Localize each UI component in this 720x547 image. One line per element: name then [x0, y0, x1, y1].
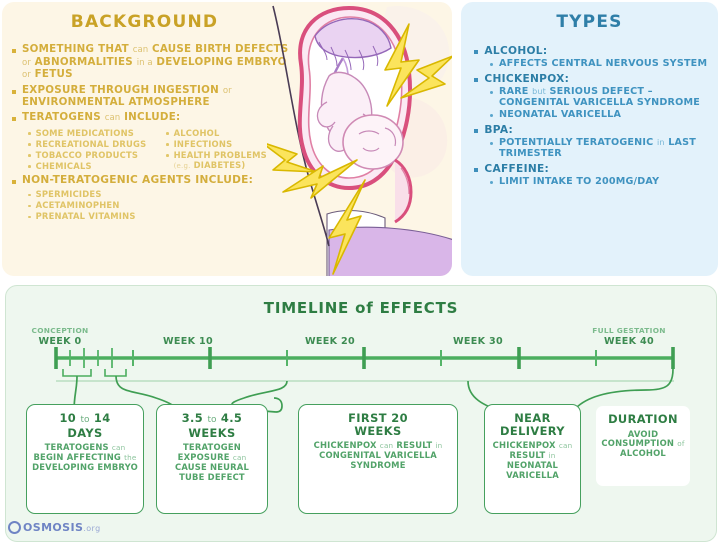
osmosis-wordmark: OSMOSIS.org	[23, 521, 101, 534]
timeline-panel: TIMELINE of EFFECTS CONCEPTION WEEK 0 WE…	[5, 285, 717, 542]
background-panel-title: BACKGROUND	[2, 12, 287, 32]
types-group-caffeine: CAFFEINE:	[474, 163, 712, 175]
timeline-card-3-5-4-5-weeks[interactable]: 3.5 to 4.5WEEKS TERATOGEN EXPOSURE can C…	[156, 404, 268, 514]
list-item: HEALTH PROBLEMS(e.g. DIABETES)	[166, 150, 267, 171]
square-bullet-icon	[474, 129, 478, 133]
timeline-card-10-14-days[interactable]: 10 to 14DAYS TERATOGENS can BEGIN AFFECT…	[26, 404, 144, 514]
osmosis-ring-icon	[8, 521, 21, 534]
square-bullet-icon	[12, 49, 16, 53]
background-panel: BACKGROUND SOMETHING THAT can CAUSE BIRT…	[2, 2, 452, 276]
card-heading: FIRST 20WEEKS	[348, 412, 408, 437]
list-item: PRENATAL VITAMINS	[28, 211, 290, 221]
list-item: ALCOHOL	[166, 128, 267, 138]
list-item: INFECTIONS	[166, 139, 267, 149]
square-bullet-icon	[12, 180, 16, 184]
card-heading: DURATION	[608, 413, 678, 426]
card-heading: 3.5 to 4.5WEEKS	[182, 412, 243, 439]
card-body: CHICKENPOX can RESULT in CONGENITAL VARI…	[303, 441, 453, 470]
square-bullet-icon	[474, 50, 478, 54]
list-item: LIMIT INTAKE TO 200MG/DAY	[490, 176, 712, 187]
list-item: NEONATAL VARICELLA	[490, 109, 712, 120]
types-panel-title: TYPES	[461, 12, 718, 32]
osmosis-logo[interactable]: OSMOSIS.org	[8, 521, 101, 534]
bullet-text: EXPOSURE THROUGH INGESTION or ENVIRONMEN…	[22, 85, 290, 109]
card-body: TERATOGENS can BEGIN AFFECTING the DEVEL…	[31, 443, 139, 472]
dot-bullet-icon	[490, 114, 493, 117]
square-bullet-icon	[12, 117, 16, 121]
teratogens-column-2: ALCOHOL INFECTIONS HEALTH PROBLEMS(e.g. …	[166, 128, 267, 172]
list-item: CHEMICALS	[28, 161, 156, 171]
dot-bullet-icon	[28, 194, 31, 197]
types-sublist-alcohol: AFFECTS CENTRAL NERVOUS SYSTEM	[490, 58, 712, 69]
bullet-item-exposure: EXPOSURE THROUGH INGESTION or ENVIRONMEN…	[12, 85, 290, 109]
dot-bullet-icon	[166, 154, 169, 157]
bullet-item-nonteratogenic: NON-TERATOGENIC AGENTS INCLUDE:	[12, 175, 290, 187]
square-bullet-icon	[12, 90, 16, 94]
dot-bullet-icon	[28, 143, 31, 146]
types-sublist-bpa: POTENTIALLY TERATOGENIC in LAST TRIMESTE…	[490, 137, 712, 159]
dot-bullet-icon	[28, 205, 31, 208]
bullet-text: SOMETHING THAT can CAUSE BIRTH DEFECTS o…	[22, 44, 290, 82]
types-panel: TYPES ALCOHOL: AFFECTS CENTRAL NERVOUS S…	[461, 2, 718, 276]
fetus-in-utero-illustration	[267, 2, 452, 276]
types-group-bpa: BPA:	[474, 124, 712, 136]
nonteratogenic-sublist: SPERMICIDES ACETAMINOPHEN PRENATAL VITAM…	[28, 189, 290, 221]
card-body: CHICKENPOX can RESULT in NEONATAL VARICE…	[489, 441, 576, 480]
list-item: TOBACCO PRODUCTS	[28, 150, 156, 160]
teratogens-sublist: SOME MEDICATIONS RECREATIONAL DRUGS TOBA…	[28, 128, 290, 172]
list-item: RARE but SERIOUS DEFECT – CONGENITAL VAR…	[490, 86, 712, 108]
dot-bullet-icon	[28, 165, 31, 168]
dot-bullet-icon	[490, 63, 493, 66]
card-heading: NEARDELIVERY	[500, 412, 565, 437]
dot-bullet-icon	[166, 132, 169, 135]
types-sublist-caffeine: LIMIT INTAKE TO 200MG/DAY	[490, 176, 712, 187]
card-body: AVOID CONSUMPTION of ALCOHOL	[600, 430, 686, 459]
list-item: POTENTIALLY TERATOGENIC in LAST TRIMESTE…	[490, 137, 712, 159]
types-group-chickenpox: CHICKENPOX:	[474, 73, 712, 85]
square-bullet-icon	[474, 78, 478, 82]
dot-bullet-icon	[490, 142, 493, 145]
dot-bullet-icon	[28, 154, 31, 157]
background-bullet-list: SOMETHING THAT can CAUSE BIRTH DEFECTS o…	[12, 44, 290, 222]
timeline-card-duration[interactable]: DURATION AVOID CONSUMPTION of ALCOHOL	[596, 406, 690, 486]
types-list: ALCOHOL: AFFECTS CENTRAL NERVOUS SYSTEM …	[474, 45, 712, 191]
bullet-item-definition: SOMETHING THAT can CAUSE BIRTH DEFECTS o…	[12, 44, 290, 82]
list-item: ACETAMINOPHEN	[28, 200, 290, 210]
bullet-text: TERATOGENS can INCLUDE:	[22, 112, 180, 125]
teratogens-column-1: SOME MEDICATIONS RECREATIONAL DRUGS TOBA…	[28, 128, 156, 172]
timeline-card-first-20-weeks[interactable]: FIRST 20WEEKS CHICKENPOX can RESULT in C…	[298, 404, 458, 514]
dot-bullet-icon	[28, 216, 31, 219]
bullet-item-teratogens: TERATOGENS can INCLUDE:	[12, 112, 290, 125]
list-item: RECREATIONAL DRUGS	[28, 139, 156, 149]
health-problems-text: HEALTH PROBLEMS(e.g. DIABETES)	[174, 150, 267, 171]
card-body: TERATOGEN EXPOSURE can CAUSE NEURAL TUBE…	[161, 443, 263, 482]
dot-bullet-icon	[166, 143, 169, 146]
dot-bullet-icon	[490, 91, 493, 94]
types-group-alcohol: ALCOHOL:	[474, 45, 712, 57]
dot-bullet-icon	[28, 132, 31, 135]
card-heading: 10 to 14DAYS	[59, 412, 110, 439]
chickenpox-sub-1: RARE but SERIOUS DEFECT – CONGENITAL VAR…	[499, 86, 712, 108]
list-item: AFFECTS CENTRAL NERVOUS SYSTEM	[490, 58, 712, 69]
list-item: SPERMICIDES	[28, 189, 290, 199]
types-sublist-chickenpox: RARE but SERIOUS DEFECT – CONGENITAL VAR…	[490, 86, 712, 120]
bpa-sub-1: POTENTIALLY TERATOGENIC in LAST TRIMESTE…	[499, 137, 712, 159]
timeline-card-near-delivery[interactable]: NEARDELIVERY CHICKENPOX can RESULT in NE…	[484, 404, 581, 514]
square-bullet-icon	[474, 168, 478, 172]
dot-bullet-icon	[490, 181, 493, 184]
list-item: SOME MEDICATIONS	[28, 128, 156, 138]
